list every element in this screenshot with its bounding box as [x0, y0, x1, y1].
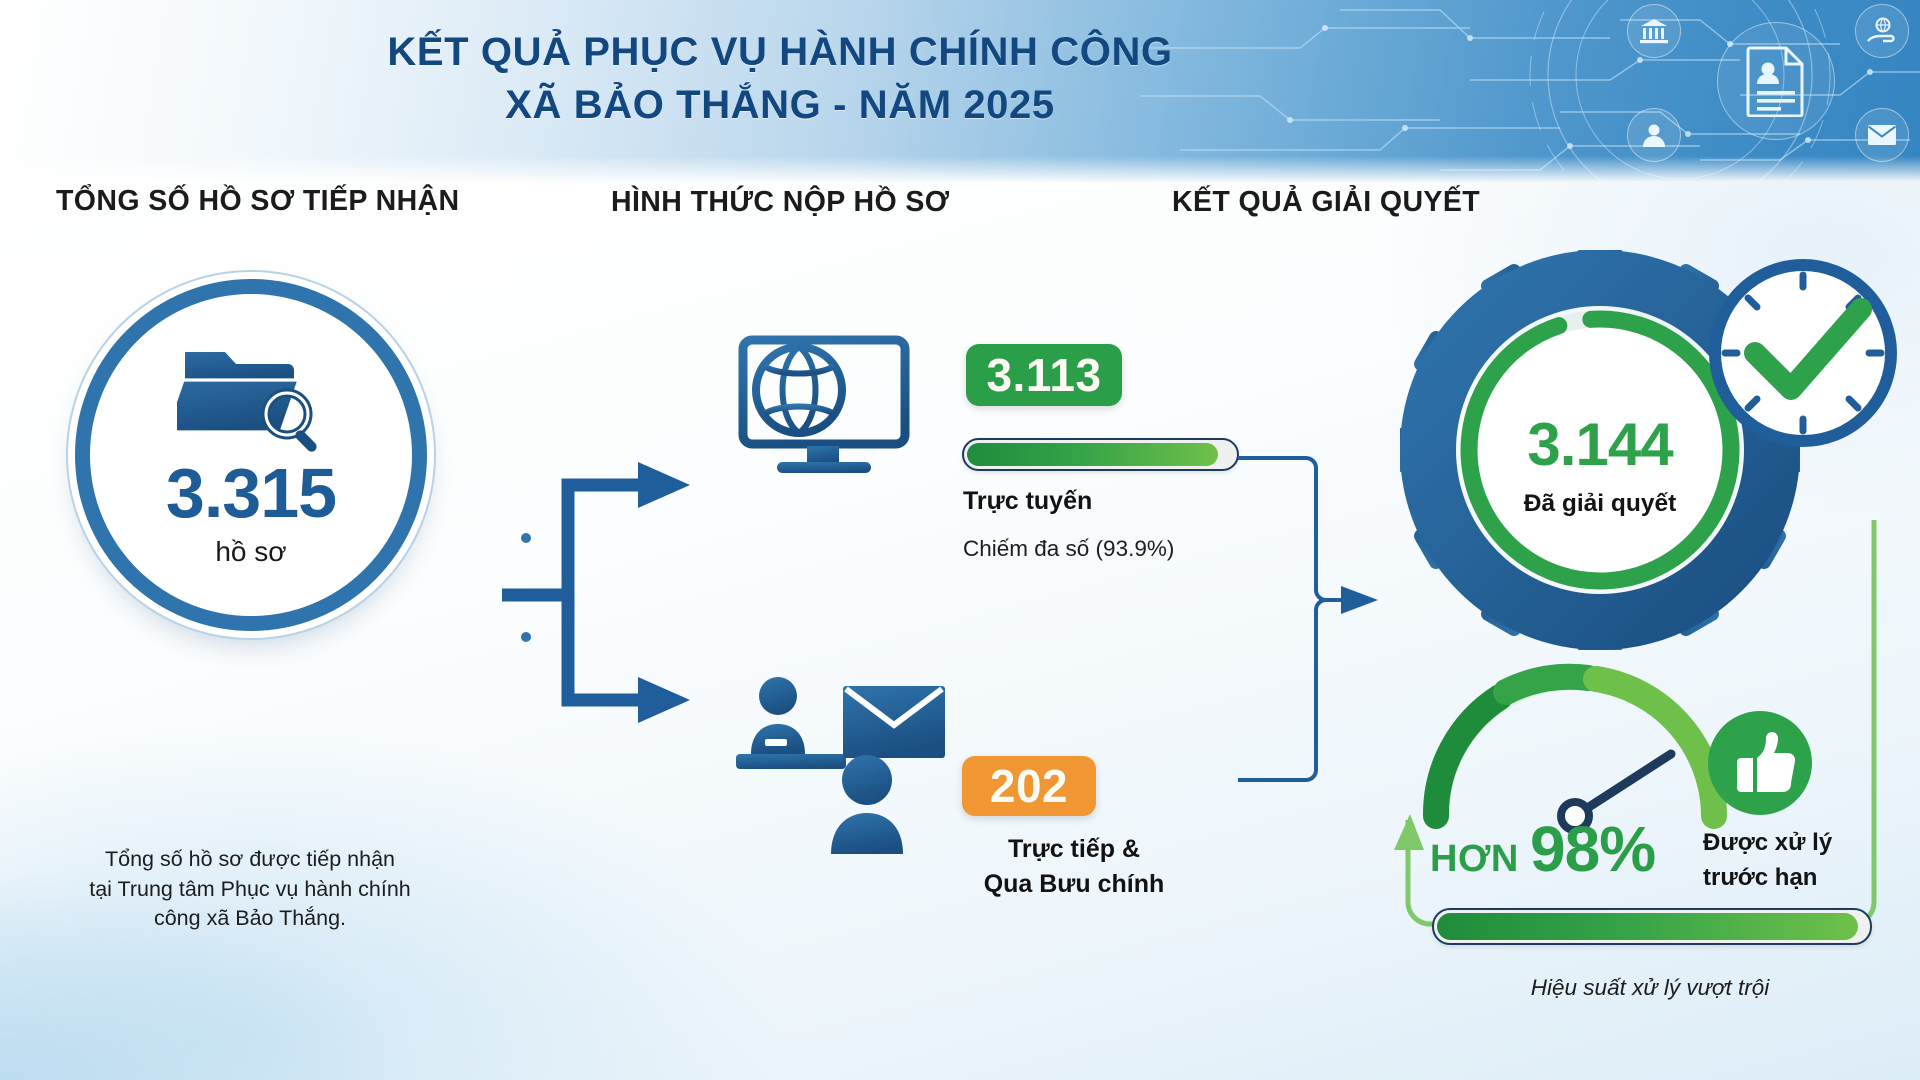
section-title-submission: HÌNH THỨC NỘP HỒ SƠ — [611, 186, 949, 219]
online-count-badge: 3.113 — [966, 344, 1122, 406]
envelope-icon-ring — [1855, 108, 1909, 162]
ontime-label-line-1: Được xử lý — [1703, 828, 1832, 859]
online-note: Chiếm đa số (93.9%) — [963, 536, 1174, 562]
ontime-label-line-2: trước hạn — [1703, 863, 1817, 894]
online-progress-bar — [962, 438, 1239, 471]
counter-service-envelope-icon — [727, 672, 957, 857]
person-badge-icon — [1640, 121, 1668, 149]
total-received-circle: 3.315 hồ sơ — [75, 279, 427, 631]
desktop-globe-icon — [733, 328, 923, 488]
page-header: KẾT QUẢ PHỤC VỤ HÀNH CHÍNH CÔNG XÃ BẢO T… — [0, 0, 1920, 182]
offline-label-line-2: Qua Bưu chính — [934, 868, 1214, 901]
offline-count-badge: 202 — [962, 756, 1096, 816]
resolved-value: 3.144 — [1505, 415, 1695, 475]
ontime-percent: 98% — [1530, 812, 1655, 886]
left-caption: Tổng số hồ sơ được tiếp nhận tại Trung t… — [40, 845, 460, 934]
over-prefix: HƠN — [1430, 838, 1519, 881]
total-received-value: 3.315 — [166, 458, 336, 528]
document-person-icon-ring — [1717, 22, 1835, 140]
bank-building-icon-ring — [1627, 4, 1681, 58]
online-progress-fill — [967, 443, 1218, 466]
header-fade — [0, 156, 1920, 182]
person-badge-icon-ring — [1627, 108, 1681, 162]
ontime-progress-fill — [1437, 913, 1858, 940]
performance-footer-note: Hiệu suất xử lý vượt trội — [1435, 975, 1865, 1001]
hand-globe-icon — [1866, 17, 1898, 45]
folder-search-icon — [177, 342, 325, 454]
document-person-icon — [1746, 45, 1806, 117]
section-title-received: TỔNG SỐ HỒ SƠ TIẾP NHẬN — [56, 185, 460, 218]
resolved-label: Đã giải quyết — [1505, 490, 1695, 518]
clock-check-icon — [1703, 253, 1903, 453]
bank-building-icon — [1639, 17, 1669, 45]
speedometer-icon — [1420, 648, 1730, 833]
online-label: Trực tuyến — [963, 487, 1092, 516]
thumbs-up-icon — [1705, 708, 1815, 818]
flow-connector-right — [1238, 410, 1388, 810]
flow-arrows-left — [490, 380, 740, 820]
page-title-line-2: XÃ BẢO THẮNG - NĂM 2025 — [0, 79, 1560, 132]
hand-globe-icon-ring — [1855, 4, 1909, 58]
section-title-result: KẾT QUẢ GIẢI QUYẾT — [1172, 186, 1480, 219]
infographic-root: KẾT QUẢ PHỤC VỤ HÀNH CHÍNH CÔNG XÃ BẢO T… — [0, 0, 1920, 1080]
envelope-icon — [1867, 124, 1897, 146]
page-title-line-1: KẾT QUẢ PHỤC VỤ HÀNH CHÍNH CÔNG — [0, 26, 1560, 79]
left-caption-line-2: tại Trung tâm Phục vụ hành chính — [40, 875, 460, 905]
left-caption-line-1: Tổng số hồ sơ được tiếp nhận — [40, 845, 460, 875]
title-block: KẾT QUẢ PHỤC VỤ HÀNH CHÍNH CÔNG XÃ BẢO T… — [0, 26, 1560, 132]
ontime-progress-bar — [1432, 908, 1872, 945]
offline-label-line-1: Trực tiếp & — [934, 833, 1214, 866]
left-caption-line-3: công xã Bảo Thắng. — [40, 904, 460, 934]
total-received-unit: hồ sơ — [215, 536, 286, 568]
